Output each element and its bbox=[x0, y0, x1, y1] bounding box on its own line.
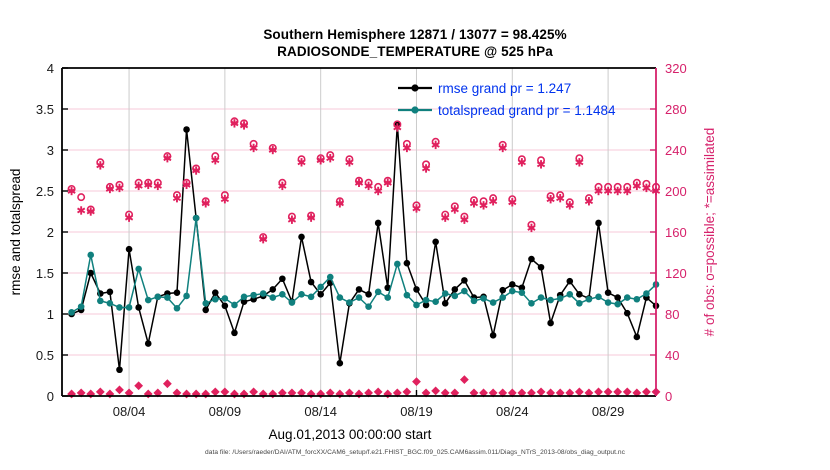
data-point bbox=[308, 279, 315, 286]
data-point bbox=[614, 294, 621, 301]
data-point bbox=[106, 390, 115, 399]
series-asterisk bbox=[68, 119, 660, 243]
data-point bbox=[575, 388, 584, 397]
data-point bbox=[126, 246, 133, 253]
data-point bbox=[413, 286, 420, 293]
data-point bbox=[250, 292, 257, 299]
data-point bbox=[268, 390, 277, 399]
legend-marker bbox=[411, 106, 418, 113]
data-point bbox=[192, 390, 201, 399]
y-tick-label-left: 1.5 bbox=[36, 266, 54, 281]
data-point bbox=[623, 388, 632, 397]
data-point bbox=[269, 294, 276, 301]
data-point bbox=[394, 261, 401, 268]
data-point bbox=[634, 296, 641, 303]
y-tick-label-left: 2.5 bbox=[36, 184, 54, 199]
data-point bbox=[480, 295, 487, 302]
data-point bbox=[67, 390, 76, 399]
data-point bbox=[78, 303, 85, 310]
data-point bbox=[442, 300, 449, 307]
data-point bbox=[613, 388, 622, 397]
data-point bbox=[183, 293, 190, 300]
data-point bbox=[624, 310, 631, 317]
series-filled-circle bbox=[68, 121, 659, 373]
data-point bbox=[269, 286, 276, 293]
data-point bbox=[212, 289, 219, 296]
data-point bbox=[212, 296, 219, 303]
data-point bbox=[642, 388, 651, 397]
y-tick-label-right: 0 bbox=[665, 389, 672, 404]
data-point bbox=[144, 390, 153, 399]
data-point bbox=[375, 289, 382, 296]
data-point bbox=[279, 291, 286, 298]
y-tick-label-right: 160 bbox=[665, 225, 687, 240]
y-tick-label-right: 80 bbox=[665, 307, 679, 322]
data-point bbox=[135, 304, 142, 311]
y-axis-label-left: rmse and totalspread bbox=[8, 169, 23, 296]
chart-figure: Southern Hemisphere 12871 / 13077 = 98.4… bbox=[0, 0, 830, 470]
data-point bbox=[490, 299, 497, 306]
data-point bbox=[145, 297, 152, 304]
data-point bbox=[211, 388, 220, 397]
data-point bbox=[155, 293, 162, 300]
legend-entry[interactable]: rmse grand pr = 1.247 bbox=[398, 81, 571, 96]
chart-canvas: 00.511.522.533.5404080120160200240280320… bbox=[0, 0, 830, 470]
data-point bbox=[116, 304, 123, 311]
data-point bbox=[383, 390, 392, 399]
data-point bbox=[68, 309, 75, 316]
y-tick-label-left: 3.5 bbox=[36, 102, 54, 117]
data-point bbox=[509, 288, 516, 295]
y-tick-label-right: 200 bbox=[665, 184, 687, 199]
data-file-footer: data file: /Users/raeder/DAI/ATM_forcXX/… bbox=[0, 449, 830, 456]
data-point bbox=[202, 300, 209, 307]
x-tick-label: 08/04 bbox=[113, 404, 146, 419]
data-point bbox=[317, 284, 324, 291]
data-point bbox=[78, 194, 84, 200]
data-point bbox=[356, 294, 363, 301]
data-point bbox=[220, 388, 229, 397]
data-point bbox=[337, 360, 344, 367]
x-tick-label: 08/29 bbox=[592, 404, 625, 419]
data-point bbox=[201, 390, 210, 399]
data-point bbox=[595, 220, 602, 227]
data-point bbox=[279, 275, 286, 282]
data-point bbox=[337, 294, 344, 301]
x-tick-label: 08/24 bbox=[496, 404, 529, 419]
data-point bbox=[604, 388, 613, 397]
data-point bbox=[307, 390, 316, 399]
data-point bbox=[547, 297, 554, 304]
data-point bbox=[249, 388, 258, 397]
data-point bbox=[193, 215, 200, 222]
data-point bbox=[413, 302, 420, 309]
data-point bbox=[259, 390, 268, 399]
data-point bbox=[595, 293, 602, 300]
data-point bbox=[356, 286, 363, 293]
data-point bbox=[87, 252, 94, 259]
x-axis-label: Aug.01,2013 00:00:00 start bbox=[0, 427, 700, 442]
data-point bbox=[317, 291, 324, 298]
data-point bbox=[231, 330, 238, 337]
data-point bbox=[327, 274, 334, 281]
data-point bbox=[576, 291, 583, 298]
data-point bbox=[116, 366, 123, 373]
data-point bbox=[460, 375, 469, 384]
data-point bbox=[499, 294, 506, 301]
y-tick-label-left: 4 bbox=[47, 61, 54, 76]
series-open-circle bbox=[68, 118, 659, 240]
data-point bbox=[519, 289, 526, 296]
data-point bbox=[355, 390, 364, 399]
y-tick-label-right: 40 bbox=[665, 348, 679, 363]
data-point bbox=[537, 388, 546, 397]
data-point bbox=[230, 390, 239, 399]
data-point bbox=[442, 290, 449, 297]
data-point bbox=[432, 239, 439, 246]
x-tick-label: 08/14 bbox=[304, 404, 337, 419]
y-tick-label-right: 120 bbox=[665, 266, 687, 281]
data-point bbox=[576, 300, 583, 307]
y-tick-label-right: 320 bbox=[665, 61, 687, 76]
data-point bbox=[231, 302, 238, 309]
data-point bbox=[222, 295, 229, 302]
data-point bbox=[241, 293, 248, 300]
data-point bbox=[557, 295, 564, 302]
data-point bbox=[605, 299, 612, 306]
data-point bbox=[452, 286, 459, 293]
y-tick-label-left: 1 bbox=[47, 307, 54, 322]
y-tick-label-left: 2 bbox=[47, 225, 54, 240]
legend-marker bbox=[411, 84, 418, 91]
data-point bbox=[202, 307, 209, 314]
data-point bbox=[471, 298, 478, 305]
data-point bbox=[135, 266, 142, 273]
data-point bbox=[115, 385, 124, 394]
legend-label: totalspread grand pr = 1.1484 bbox=[438, 103, 616, 118]
legend-label: rmse grand pr = 1.247 bbox=[438, 81, 571, 96]
data-point bbox=[134, 381, 143, 390]
data-point bbox=[528, 300, 535, 307]
data-point bbox=[316, 390, 325, 399]
data-point bbox=[107, 300, 114, 307]
data-point bbox=[624, 294, 631, 301]
data-point bbox=[547, 320, 554, 327]
data-point bbox=[240, 390, 249, 399]
data-series-layer bbox=[67, 118, 660, 398]
data-point bbox=[86, 390, 95, 399]
data-point bbox=[183, 126, 190, 133]
data-point bbox=[509, 281, 516, 288]
data-point bbox=[384, 294, 391, 301]
y-tick-label-left: 3 bbox=[47, 143, 54, 158]
y-tick-label-right: 280 bbox=[665, 102, 687, 117]
data-point bbox=[432, 298, 439, 305]
data-point bbox=[163, 379, 172, 388]
y-tick-label-left: 0.5 bbox=[36, 348, 54, 363]
data-point bbox=[452, 293, 459, 300]
data-point bbox=[335, 390, 344, 399]
data-point bbox=[346, 299, 353, 306]
data-point bbox=[374, 388, 383, 397]
data-point bbox=[97, 298, 104, 305]
data-point bbox=[174, 289, 181, 296]
data-point bbox=[222, 303, 229, 310]
data-point bbox=[538, 294, 545, 301]
data-point bbox=[126, 304, 133, 311]
data-point bbox=[298, 291, 305, 298]
x-tick-label: 08/09 bbox=[209, 404, 242, 419]
data-point bbox=[365, 303, 372, 310]
data-point bbox=[182, 390, 191, 399]
x-tick-label: 08/19 bbox=[400, 404, 433, 419]
data-point bbox=[566, 291, 573, 298]
data-point bbox=[461, 288, 468, 295]
data-point bbox=[375, 220, 382, 227]
data-point bbox=[490, 332, 497, 339]
data-point bbox=[404, 292, 411, 299]
data-point bbox=[431, 386, 440, 395]
data-point bbox=[499, 287, 506, 294]
data-point bbox=[289, 299, 296, 306]
data-point bbox=[423, 297, 430, 304]
data-point bbox=[614, 301, 621, 308]
data-point bbox=[412, 377, 421, 386]
data-point bbox=[403, 388, 412, 397]
series-line bbox=[72, 125, 656, 370]
data-point bbox=[528, 256, 535, 263]
y-axis-label-right: # of obs: o=possible; *=assimilated bbox=[702, 128, 717, 337]
data-point bbox=[404, 260, 411, 267]
data-point bbox=[461, 277, 468, 284]
data-point bbox=[605, 289, 612, 296]
data-point bbox=[634, 334, 641, 341]
data-point bbox=[96, 388, 105, 397]
y-tick-label-right: 240 bbox=[665, 143, 687, 158]
data-point bbox=[298, 234, 305, 241]
data-point bbox=[260, 290, 267, 297]
chart-legend[interactable]: rmse grand pr = 1.247totalspread grand p… bbox=[398, 81, 616, 118]
data-point bbox=[174, 305, 181, 312]
series-filled-diamond bbox=[67, 375, 660, 398]
data-point bbox=[586, 296, 593, 303]
data-point bbox=[107, 289, 114, 296]
data-point bbox=[365, 291, 372, 298]
data-point bbox=[145, 340, 152, 347]
data-point bbox=[538, 264, 545, 271]
data-point bbox=[643, 290, 650, 297]
data-point bbox=[164, 294, 171, 301]
data-point bbox=[594, 388, 603, 397]
legend-entry[interactable]: totalspread grand pr = 1.1484 bbox=[398, 103, 616, 118]
y-tick-label-left: 0 bbox=[47, 389, 54, 404]
data-point bbox=[308, 293, 315, 300]
data-point bbox=[566, 278, 573, 285]
